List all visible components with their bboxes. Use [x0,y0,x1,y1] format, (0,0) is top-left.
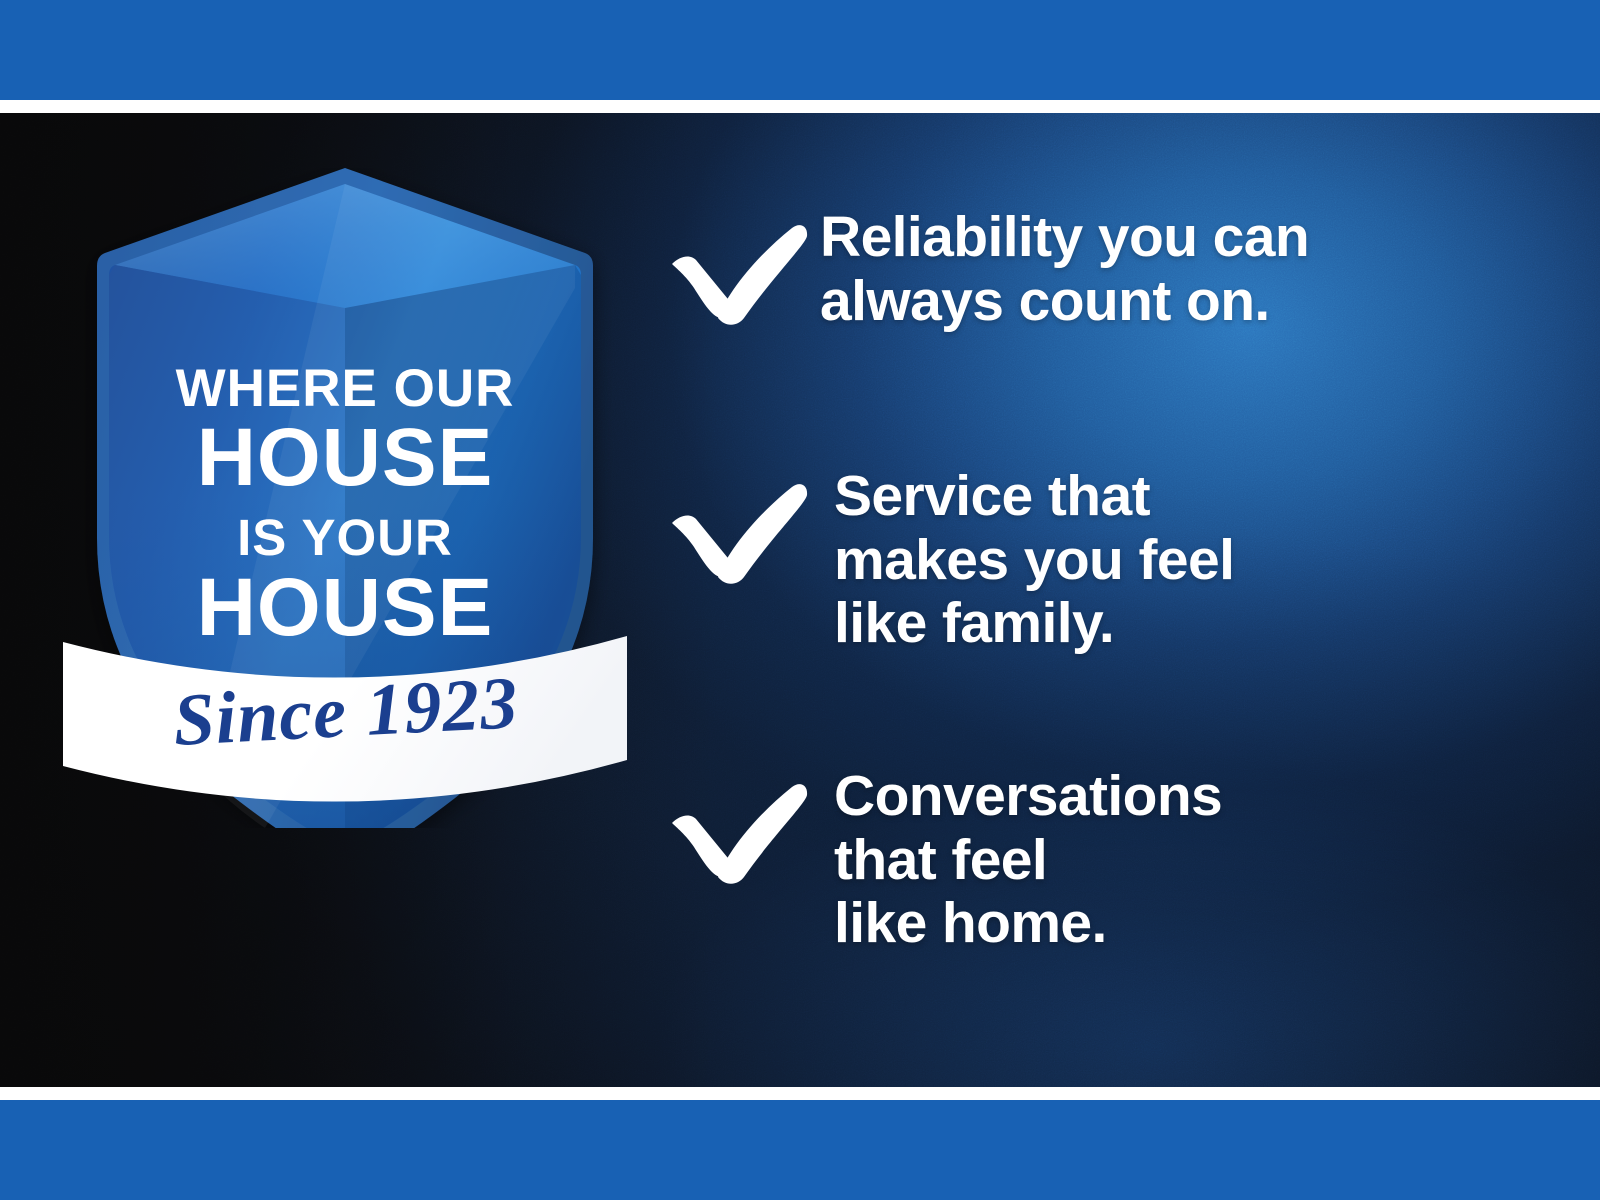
bottom-accent-bar [0,1100,1600,1200]
logo-line-3: IS YOUR [237,509,453,566]
logo-line-1: WHERE OUR [176,359,515,418]
logo-line-4: HOUSE [197,562,494,653]
checklist-item: Service that makes you feel like family. [660,465,1234,656]
check-icon [660,212,820,330]
check-icon [660,771,820,889]
checklist-item: Conversations that feel like home. [660,765,1222,956]
checklist-item-text: Conversations that feel like home. [820,765,1222,956]
logo-line-2: HOUSE [197,412,494,503]
top-accent-bar [0,0,1600,100]
checklist-item: Reliability you can always count on. [660,206,1309,333]
benefits-checklist: Reliability you can always count on. Ser… [660,113,1540,1087]
top-white-divider [0,100,1600,113]
checklist-item-text: Reliability you can always count on. [820,206,1309,333]
checklist-item-text: Service that makes you feel like family. [820,465,1234,656]
check-icon [660,471,820,589]
shield-logo: WHERE OUR HOUSE IS YOUR HOUSE Since 1923 [55,168,635,828]
promo-graphic: WHERE OUR HOUSE IS YOUR HOUSE Since 1923… [0,0,1600,1200]
bottom-white-divider [0,1087,1600,1100]
